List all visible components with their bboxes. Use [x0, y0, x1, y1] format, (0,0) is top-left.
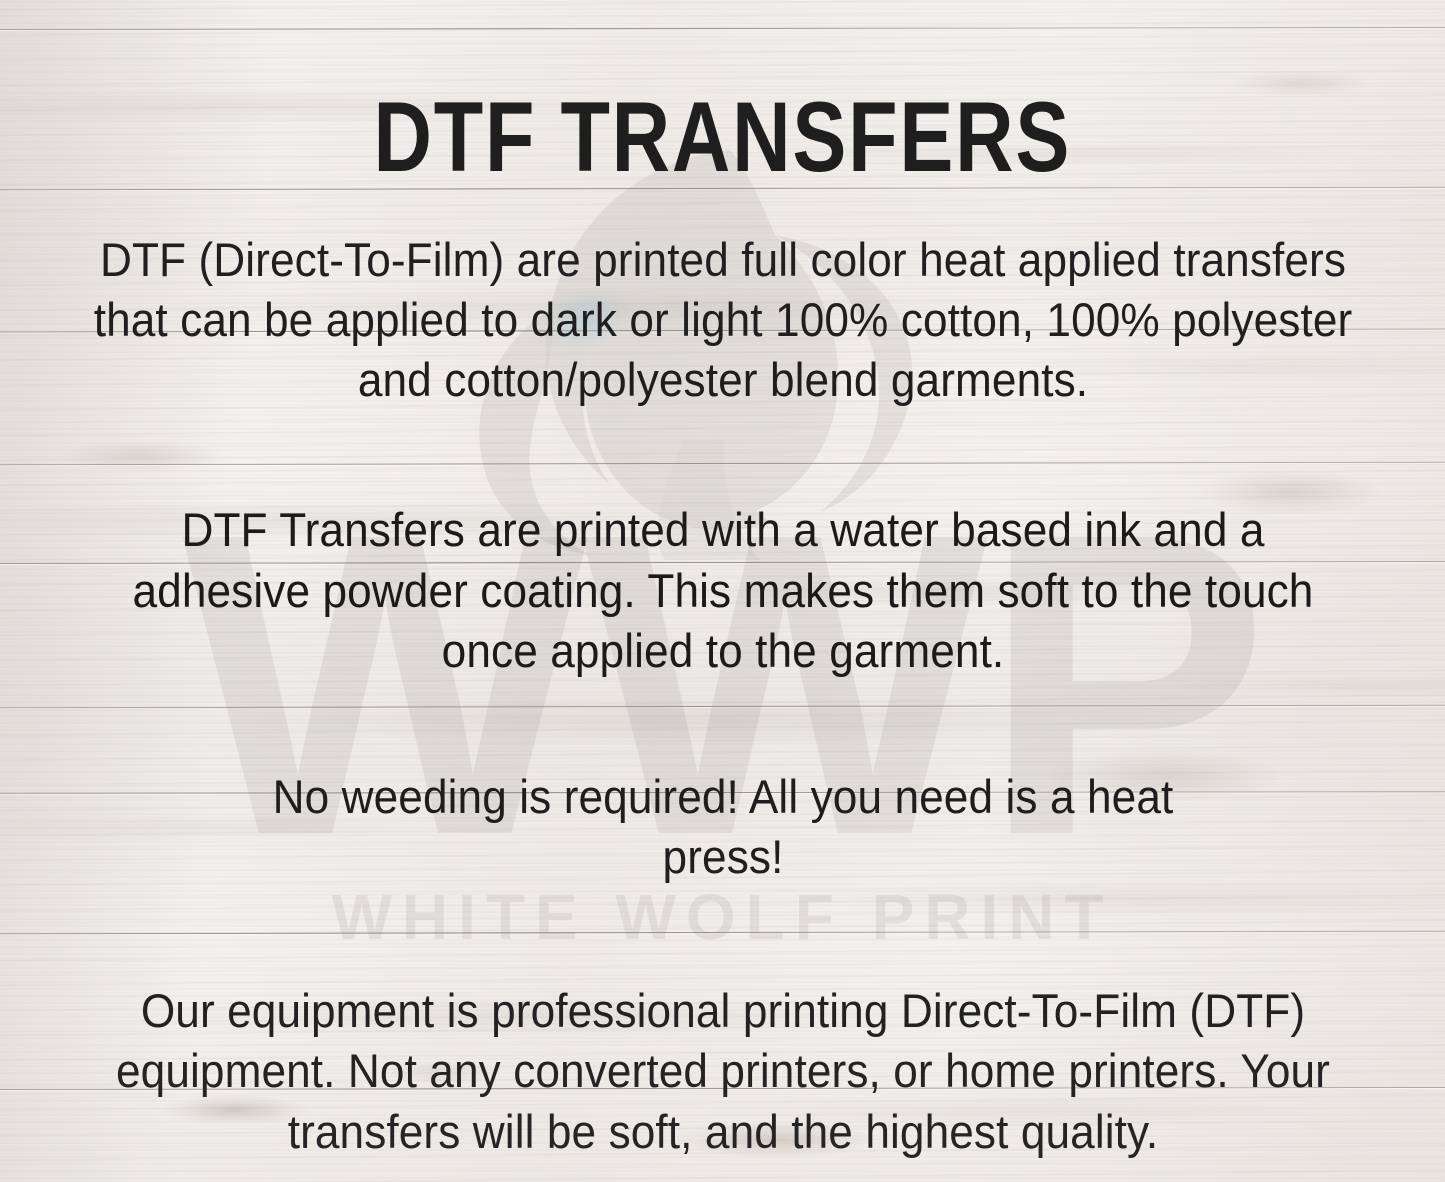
poster-canvas: WWP WHITE WOLF PRINT DTF TRANSFERS DTF (… [0, 0, 1445, 1182]
body-copy: DTF (Direct-To-Film) are printed full co… [38, 220, 1408, 1162]
page-title: DTF TRANSFERS [374, 88, 1072, 187]
paragraph-what-is-dtf: DTF (Direct-To-Film) are printed full co… [83, 230, 1361, 410]
paragraph-ink-and-powder: DTF Transfers are printed with a water b… [93, 500, 1353, 680]
poster-content: DTF TRANSFERS DTF (Direct-To-Film) are p… [0, 0, 1445, 1182]
paragraph-our-equipment: Our equipment is professional printing D… [97, 981, 1347, 1161]
paragraph-no-weeding: No weeding is required! All you need is … [253, 767, 1193, 887]
